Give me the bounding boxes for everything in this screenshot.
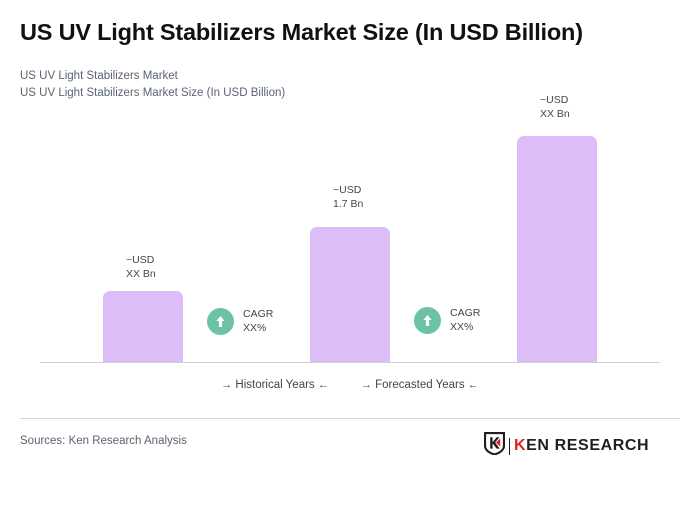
arrow-right-icon: → [221, 379, 232, 391]
cagr-label: CAGR XX% [243, 307, 273, 335]
sources-text: Sources: Ken Research Analysis [20, 435, 187, 447]
brand-wordmark-rest: EN RESEARCH [526, 437, 649, 454]
bar-value-label-line2: XX Bn [126, 267, 156, 281]
arrow-left-icon: ← [468, 379, 479, 391]
cagr-annotation-forecast: CAGR XX% [414, 306, 480, 334]
legend-item-historical-years: → Historical Years ← [221, 379, 329, 391]
brand-wordmark: KEN RESEARCH [514, 438, 649, 454]
chart-plot-area: ~USD XX Bn ~USD 1.7 Bn ~USD XX Bn CAGR X… [0, 0, 700, 400]
legend-item-forecasted-years: → Forecasted Years ← [361, 379, 479, 391]
bar-midpoint[interactable] [310, 227, 390, 362]
cagr-label: CAGR XX% [450, 306, 480, 334]
cagr-label-line2: XX% [243, 321, 273, 335]
footer-divider [20, 418, 680, 419]
bar-value-label-line2: 1.7 Bn [333, 197, 363, 211]
bar-value-label-line1: ~USD [333, 183, 363, 197]
bar-value-label-line1: ~USD [540, 93, 570, 107]
ken-research-shield-icon [484, 432, 505, 460]
axis-baseline [40, 362, 660, 363]
chart-page: US UV Light Stabilizers Market Size (In … [0, 0, 700, 520]
logo-divider [509, 438, 510, 455]
cagr-label-line2: XX% [450, 320, 480, 334]
arrow-up-icon [207, 308, 234, 335]
period-legend: → Historical Years ← → Forecasted Years … [0, 379, 700, 391]
legend-label-forecasted: Forecasted Years [375, 379, 465, 391]
bar-value-label-line2: XX Bn [540, 107, 570, 121]
bar-forecast-end[interactable] [517, 136, 597, 362]
cagr-annotation-historical: CAGR XX% [207, 307, 273, 335]
bar-value-label: ~USD XX Bn [126, 253, 156, 281]
arrow-up-icon [414, 307, 441, 334]
bar-value-label: ~USD 1.7 Bn [333, 183, 363, 211]
cagr-label-line1: CAGR [243, 307, 273, 321]
brand-logo: KEN RESEARCH [484, 432, 649, 460]
cagr-label-line1: CAGR [450, 306, 480, 320]
bar-value-label-line1: ~USD [126, 253, 156, 267]
legend-label-historical: Historical Years [235, 379, 314, 391]
arrow-right-icon: → [361, 379, 372, 391]
arrow-left-icon: ← [318, 379, 329, 391]
bar-value-label: ~USD XX Bn [540, 93, 570, 121]
bar-historical-1[interactable] [103, 291, 183, 362]
